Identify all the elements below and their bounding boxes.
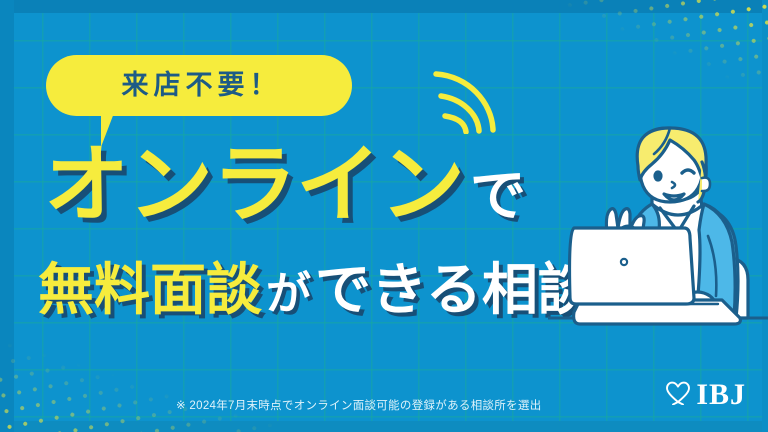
heart-icon [665, 381, 691, 410]
speech-bubble-body: 来店不要！ [46, 55, 352, 116]
headline-suffix-de: で [470, 168, 526, 224]
ibj-logo-text: IBJ [696, 380, 746, 410]
headline-line-1: オンライン で [44, 143, 526, 228]
wifi-arcs-icon [430, 62, 500, 139]
ibj-logo[interactable]: IBJ [665, 380, 746, 410]
headline-highlight-free-consultation: 無料面談 [38, 262, 262, 318]
headline-highlight-online: オンライン [44, 143, 464, 228]
speech-bubble-label: 来店不要！ [117, 72, 282, 99]
woman-at-laptop-ok-gesture-illustration [548, 126, 768, 345]
headline-particle-ga: が [266, 271, 311, 316]
footnote-caption: ※ 2024年7月末時点でオンライン面談可能の登録がある相談所を選出 [176, 397, 542, 413]
promo-banner: 来店不要！ オンライン で 無料面談 が できる相談所 [0, 0, 768, 432]
speech-bubble: 来店不要！ [46, 55, 352, 116]
